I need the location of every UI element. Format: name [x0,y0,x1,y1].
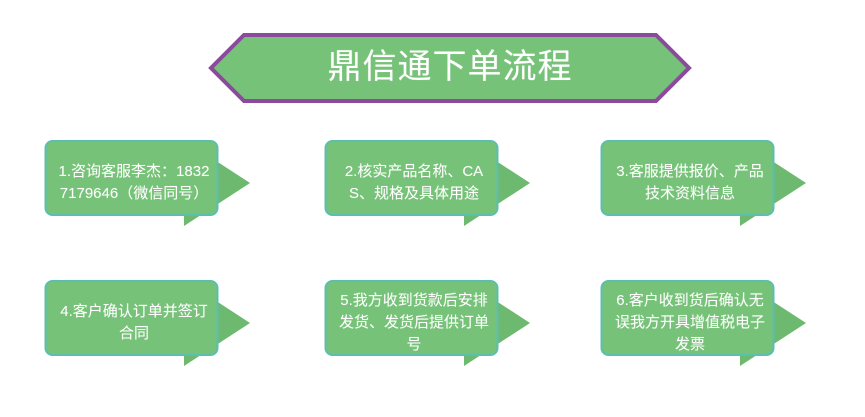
process-step-3[interactable]: 3.客服提供报价、产品技术资料信息 [600,138,812,228]
flowchart-canvas: 鼎信通下单流程 1.咨询客服李杰：18327179646（微信同号） 2.核实产… [0,0,865,417]
process-step-5-label: 5.我方收到货款后安排发货、发货后提供订单号 [332,278,496,368]
process-step-5[interactable]: 5.我方收到货款后安排发货、发货后提供订单号 [324,278,536,368]
process-step-1-label: 1.咨询客服李杰：18327179646（微信同号） [52,138,216,228]
title-banner: 鼎信通下单流程 [208,32,692,104]
process-step-6[interactable]: 6.客户收到货后确认无误我方开具增值税电子发票 [600,278,812,368]
process-step-4-label: 4.客户确认订单并签订合同 [52,278,216,368]
process-step-2[interactable]: 2.核实产品名称、CAS、规格及具体用途 [324,138,536,228]
process-step-4[interactable]: 4.客户确认订单并签订合同 [44,278,256,368]
page-title: 鼎信通下单流程 [208,32,692,104]
process-step-1[interactable]: 1.咨询客服李杰：18327179646（微信同号） [44,138,256,228]
process-step-3-label: 3.客服提供报价、产品技术资料信息 [608,138,772,228]
process-step-6-label: 6.客户收到货后确认无误我方开具增值税电子发票 [608,278,772,368]
process-step-2-label: 2.核实产品名称、CAS、规格及具体用途 [332,138,496,228]
